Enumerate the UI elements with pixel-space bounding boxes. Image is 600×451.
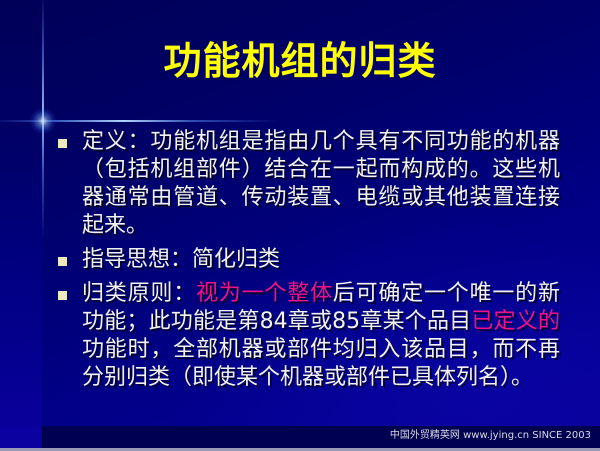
footer-site-name: 中国外贸精英网 — [390, 430, 460, 441]
slide-title: 功能机组的归类 — [0, 38, 600, 84]
bullet-segment-plain: 定义：功能机组是指由几个具有不同功能的机器（包括机组部件）结合在一起而构成的。这… — [82, 129, 560, 238]
bullet-square-icon — [58, 139, 67, 148]
bullet-item-guiding-principle: 指导思想：简化归类 — [56, 246, 560, 274]
footer-bar-left-accent — [0, 426, 42, 448]
bullet-segment-highlight-defined: 已定义的 — [471, 309, 560, 334]
bullet-segment-plain: 功能时，全部机器或部件均归入该品目，而不再分别归类（即使某个机器或部件已具体列名… — [82, 337, 560, 390]
presentation-slide: 功能机组的归类 定义：功能机组是指由几个具有不同功能的机器（包括机组部件）结合在… — [0, 0, 600, 451]
bullet-text-classification-rule: 归类原则：视为一个整体后可确定一个唯一的新功能；此功能是第84章或85章某个品目… — [82, 280, 560, 392]
lens-flare-star-icon — [30, 108, 56, 134]
bullet-segment-plain: 归类原则： — [82, 281, 196, 306]
footer-watermark: 中国外贸精英网 www.jying.cn SINCE 2003 — [390, 429, 591, 443]
footer-url: www.jying.cn — [463, 430, 529, 441]
bullet-square-icon — [58, 257, 67, 266]
bullet-item-definition: 定义：功能机组是指由几个具有不同功能的机器（包括机组部件）结合在一起而构成的。这… — [56, 128, 560, 240]
bullet-text-guiding-principle: 指导思想：简化归类 — [82, 246, 560, 274]
bullet-segment-highlight-whole-unit: 视为一个整体 — [196, 281, 333, 306]
bullet-text-definition: 定义：功能机组是指由几个具有不同功能的机器（包括机组部件）结合在一起而构成的。这… — [82, 128, 560, 240]
footer-since: SINCE 2003 — [532, 430, 591, 441]
bullet-item-classification-rule: 归类原则：视为一个整体后可确定一个唯一的新功能；此功能是第84章或85章某个品目… — [56, 280, 560, 392]
slide-body: 定义：功能机组是指由几个具有不同功能的机器（包括机组部件）结合在一起而构成的。这… — [56, 128, 560, 398]
bullet-segment-plain: 指导思想：简化归类 — [82, 247, 280, 272]
bullet-square-icon — [58, 291, 67, 300]
